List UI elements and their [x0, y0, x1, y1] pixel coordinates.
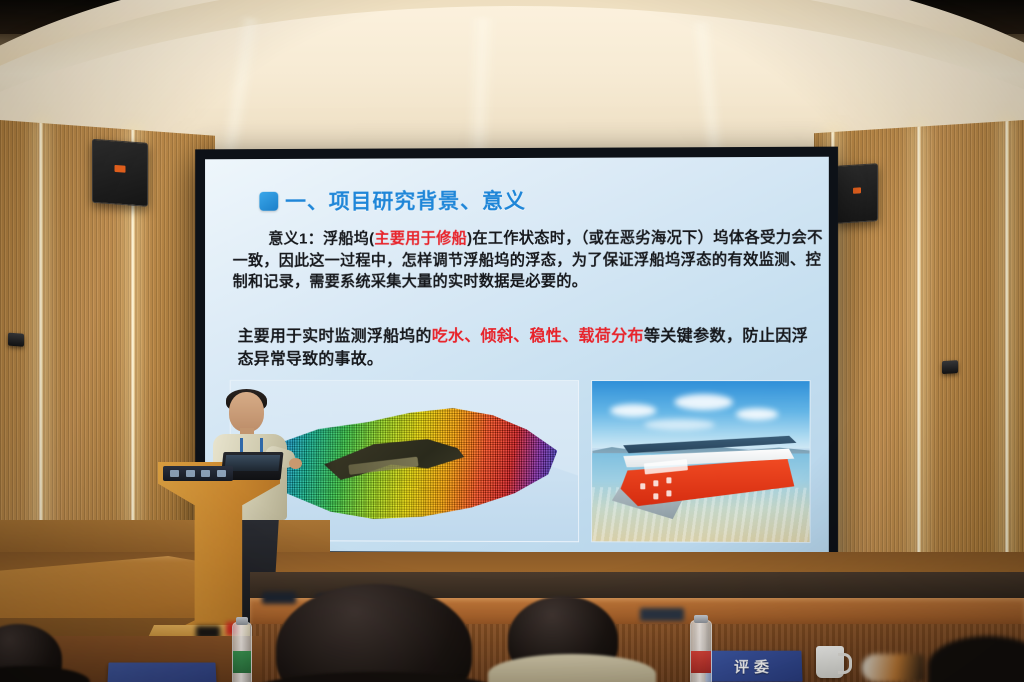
paragraph2-highlight-1: 吃水	[432, 328, 465, 345]
dock-porthole	[666, 490, 671, 496]
bottle-cap	[694, 615, 708, 623]
control-key-icon[interactable]	[170, 470, 179, 477]
cloud	[644, 419, 714, 430]
slide-paragraph-1: 意义1：浮船坞(主要用于修船)在工作状态时，（或在恶劣海况下）坞体各受力会不一致…	[233, 227, 823, 293]
water-bottle	[690, 620, 712, 682]
dock-porthole	[640, 484, 645, 490]
paragraph2-highlight-3: 稳性	[529, 328, 562, 345]
control-key-icon[interactable]	[217, 470, 226, 477]
wall-camera-icon	[8, 333, 24, 347]
jbl-logo-icon	[853, 187, 861, 194]
jbl-speaker-left	[92, 139, 148, 207]
desk-item-dark	[262, 592, 296, 604]
dock-porthole	[666, 477, 671, 483]
judge-placard: 评委	[705, 651, 802, 682]
mug-handle	[838, 653, 852, 674]
desk-object-blurred	[862, 654, 924, 682]
water-bottle-left	[232, 622, 252, 682]
desk-tablet	[640, 608, 684, 621]
jbl-logo-icon	[115, 165, 126, 173]
paragraph1-lead: 意义1：浮船坞(	[268, 230, 374, 247]
judge-placard-text: 评委	[734, 656, 774, 676]
paragraph2-lead: 主要用于实时监测浮船坞的	[238, 328, 432, 345]
sep: 、	[464, 328, 480, 345]
presentation-slide: 一、项目研究背景、意义 意义1：浮船坞(主要用于修船)在工作状态时，（或在恶劣海…	[205, 157, 829, 553]
front-placard	[107, 663, 216, 682]
bottle-cap	[236, 617, 248, 625]
white-mug	[816, 646, 844, 678]
floating-dock-photo-figure	[591, 380, 810, 543]
wall-camera-icon	[942, 360, 958, 374]
cloud	[610, 404, 656, 417]
control-key-icon[interactable]	[186, 470, 195, 477]
cloud	[675, 395, 733, 411]
led-screen[interactable]: 一、项目研究背景、意义 意义1：浮船坞(主要用于修船)在工作状态时，（或在恶劣海…	[195, 147, 838, 578]
dock-porthole	[653, 493, 658, 499]
podium-control-panel[interactable]	[163, 466, 233, 481]
light-beam	[465, 18, 496, 169]
blue-square-bullet-icon	[259, 191, 278, 210]
paragraph2-highlight-2: 倾斜	[481, 328, 514, 345]
slide-paragraph-2: 主要用于实时监测浮船坞的吃水、倾斜、稳性、载荷分布等关键参数，防止因浮态异常导致…	[238, 326, 823, 372]
paragraph1-highlight: 主要用于修船	[374, 230, 467, 247]
sep: 、	[513, 328, 529, 345]
sep: 、	[562, 328, 578, 345]
screenshot-root: 一、项目研究背景、意义 意义1：浮船坞(主要用于修船)在工作状态时，（或在恶劣海…	[0, 0, 1024, 682]
presenter-hand	[289, 458, 302, 469]
presenter-head	[229, 392, 264, 432]
control-key-icon[interactable]	[201, 470, 210, 477]
paragraph2-highlight-4: 载荷分布	[578, 328, 643, 345]
dock-porthole	[653, 481, 658, 487]
bottle-label	[233, 651, 251, 673]
slide-heading-text: 一、项目研究背景、意义	[285, 185, 526, 216]
bottle-label	[691, 651, 711, 673]
slide-figures	[230, 380, 811, 543]
jbl-speaker-right	[836, 163, 878, 224]
cloud	[736, 408, 778, 420]
slide-heading: 一、项目研究背景、意义	[259, 185, 526, 216]
